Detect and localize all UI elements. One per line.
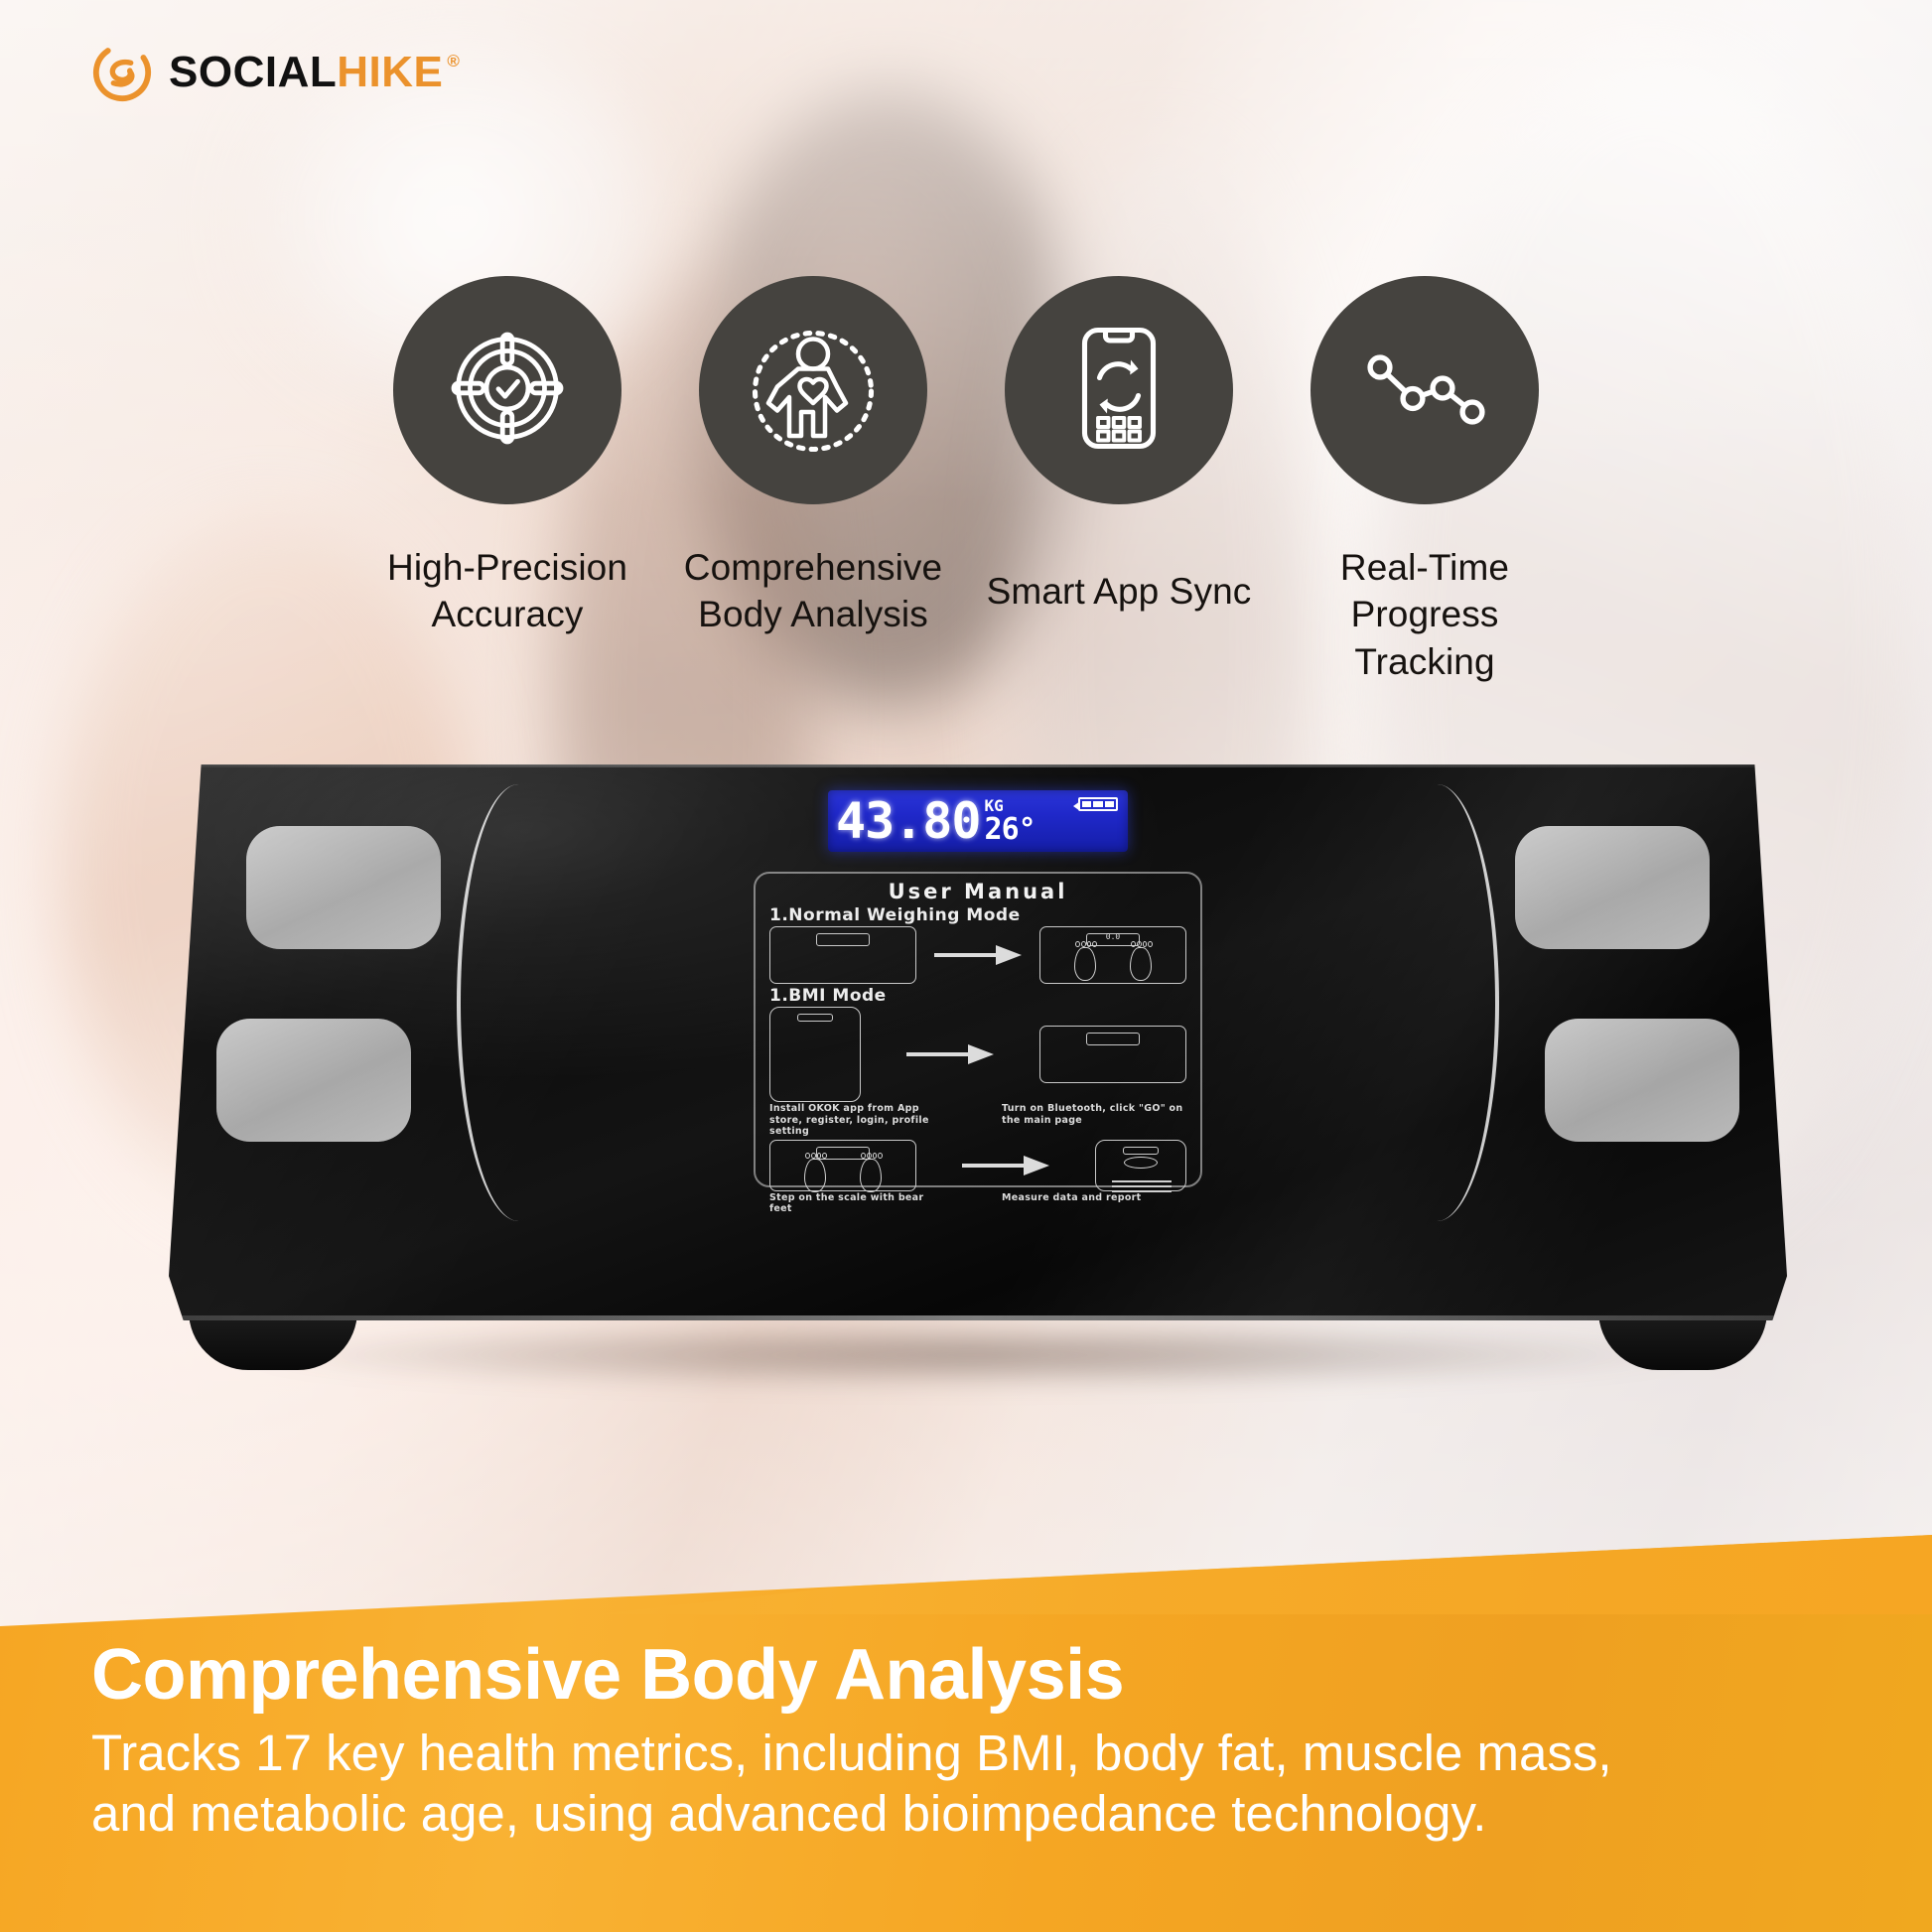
feature-icon-circle [393, 276, 621, 504]
product-image-smart-scale: 43.80 KG 26° User Manual 1.Normal Weighi… [169, 764, 1787, 1400]
banner-description: Tracks 17 key health metrics, including … [91, 1723, 1640, 1844]
feature-item-smart-app-sync: Smart App Sync [986, 276, 1252, 615]
scale-body: 43.80 KG 26° User Manual 1.Normal Weighi… [169, 764, 1787, 1320]
feature-icon-circle [699, 276, 927, 504]
scale-glass-reflection [169, 764, 1787, 1320]
feature-label: Real-Time Progress Tracking [1292, 544, 1558, 685]
feature-label: High-Precision Accuracy [387, 544, 627, 638]
brand-name-hike: HIKE [337, 51, 443, 94]
feature-label-line1: High-Precision [387, 544, 627, 591]
registered-trademark-icon: ® [447, 53, 460, 69]
feature-label-line2: Progress Tracking [1292, 591, 1558, 685]
feature-label-line2: Body Analysis [684, 591, 942, 637]
feature-label-line2: Accuracy [387, 591, 627, 637]
feature-icon-circle [1311, 276, 1539, 504]
feature-label-line1: Smart App Sync [987, 568, 1252, 615]
brand-logo: SOCIALHIKE® [91, 42, 460, 103]
feature-label: Comprehensive Body Analysis [684, 544, 942, 638]
socialhike-spiral-icon [91, 42, 153, 103]
phone-sync-icon [1044, 314, 1193, 468]
feature-label: Smart App Sync [987, 568, 1252, 615]
line-chart-icon [1350, 314, 1499, 468]
brand-name-social: SOCIAL [169, 51, 337, 94]
feature-label-line1: Comprehensive [684, 544, 942, 591]
brand-wordmark: SOCIALHIKE® [169, 51, 460, 94]
feature-icon-circle [1005, 276, 1233, 504]
target-checkmark-icon [433, 314, 582, 468]
banner-heading: Comprehensive Body Analysis [91, 1638, 1841, 1713]
feature-item-real-time-progress-tracking: Real-Time Progress Tracking [1292, 276, 1558, 685]
feature-item-high-precision-accuracy: High-Precision Accuracy [374, 276, 640, 638]
feature-label-line1: Real-Time [1292, 544, 1558, 591]
feature-item-comprehensive-body-analysis: Comprehensive Body Analysis [680, 276, 946, 638]
feature-highlights-row: High-Precision Accuracy Comprehensive Bo… [0, 276, 1932, 685]
body-heart-icon [739, 314, 888, 468]
